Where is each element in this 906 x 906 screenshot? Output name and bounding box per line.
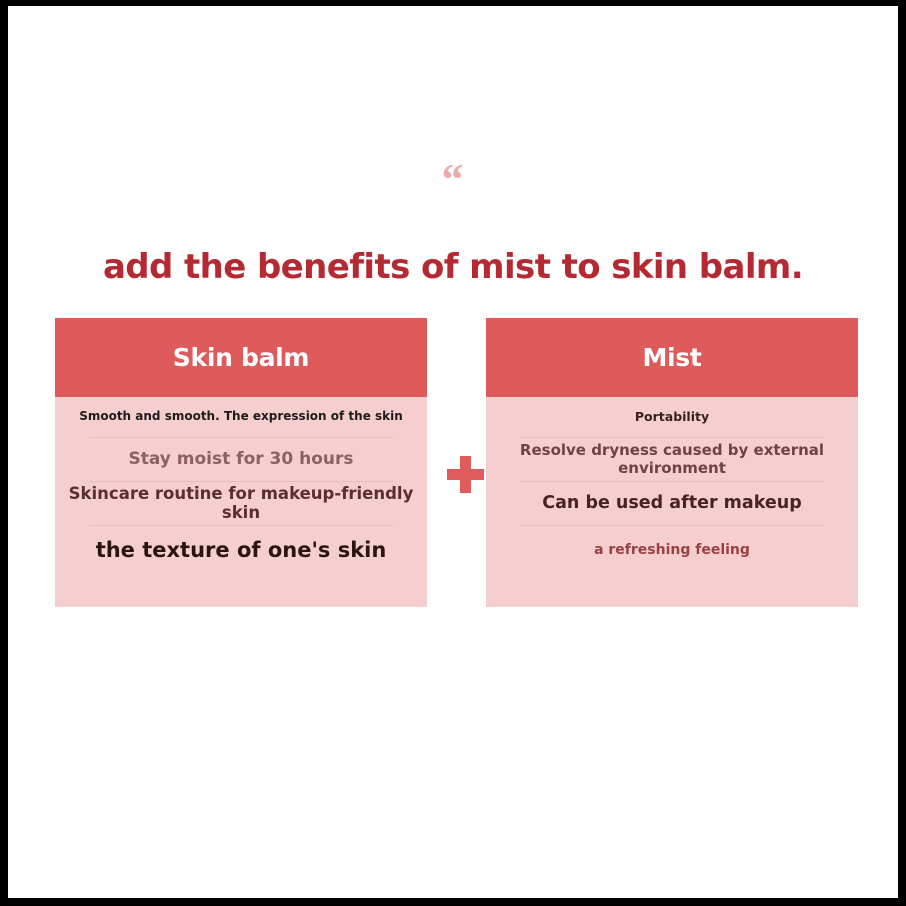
quote-mark-icon: “ (8, 158, 898, 202)
comparison-card-skin-balm: Skin balm Smooth and smooth. The express… (55, 318, 427, 607)
plus-icon (447, 456, 484, 493)
content-canvas: “ add the benefits of mist to skin balm.… (8, 6, 898, 898)
feature-item: Stay moist for 30 hours (55, 438, 427, 481)
feature-label: Skincare routine for makeup-friendly ski… (55, 485, 427, 523)
card-header-mist: Mist (486, 318, 858, 397)
feature-item: Skincare routine for makeup-friendly ski… (55, 482, 427, 525)
feature-label: Stay moist for 30 hours (55, 450, 427, 470)
feature-label: Can be used after makeup (486, 493, 858, 513)
card-body-skin-balm: Smooth and smooth. The expression of the… (55, 397, 427, 607)
card-title-mist: Mist (642, 343, 701, 372)
feature-label: Portability (486, 410, 858, 424)
card-body-mist: Portability Resolve dryness caused by ex… (486, 397, 858, 607)
comparison-card-mist: Mist Portability Resolve dryness caused … (486, 318, 858, 607)
page-title: add the benefits of mist to skin balm. (8, 247, 898, 288)
feature-label: Resolve dryness caused by external envir… (486, 442, 858, 477)
feature-item: Smooth and smooth. The expression of the… (55, 397, 427, 437)
feature-item: Portability (486, 397, 858, 437)
plus-icon-vertical-bar (460, 456, 471, 493)
feature-item: a refreshing feeling (486, 526, 858, 574)
page-frame: “ add the benefits of mist to skin balm.… (0, 0, 906, 906)
feature-label: Smooth and smooth. The expression of the… (55, 410, 427, 424)
card-header-skin-balm: Skin balm (55, 318, 427, 397)
feature-item: Can be used after makeup (486, 482, 858, 525)
feature-item: Resolve dryness caused by external envir… (486, 438, 858, 481)
feature-label: a refreshing feeling (486, 542, 858, 558)
feature-label: the texture of one's skin (55, 538, 427, 562)
feature-item: the texture of one's skin (55, 526, 427, 574)
card-title-skin-balm: Skin balm (173, 343, 309, 372)
